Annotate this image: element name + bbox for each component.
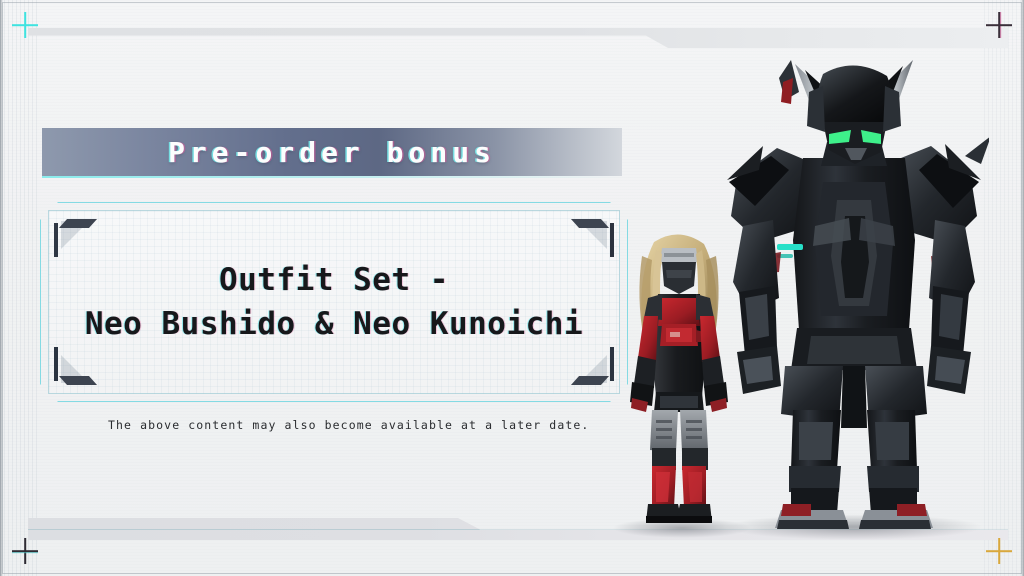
left-hatch-texture [0,0,40,576]
cross-marker-icon-bottom-left [12,538,38,564]
left-edge-shade [0,0,3,576]
edge-tick-left-bottom [54,347,58,381]
bonus-title: Outfit Set - Neo Bushido & Neo Kunoichi [85,258,583,346]
bonus-title-line-2: Neo Bushido & Neo Kunoichi [85,302,583,346]
promo-slide: Pre-order bonus Outfit Set - Neo Bushido… [0,0,1024,576]
cross-marker-icon-top-left [12,12,38,38]
corner-nub-bottom-right [571,376,609,385]
character-artwork [594,0,1024,576]
edge-tick-right-top [610,223,614,257]
edge-tick-left-top [54,223,58,257]
bonus-title-line-1: Outfit Set - [85,258,583,302]
corner-nub-top-left [59,219,97,228]
banner-label: Pre-order bonus [168,136,496,169]
disclaimer-text: The above content may also become availa… [108,418,589,432]
panel-inner-frame: Outfit Set - Neo Bushido & Neo Kunoichi [48,210,620,394]
bonus-content-panel: Outfit Set - Neo Bushido & Neo Kunoichi [40,202,628,402]
corner-nub-bottom-left [59,376,97,385]
character-neo-bushido [719,30,989,530]
edge-tick-right-bottom [610,347,614,381]
pre-order-bonus-banner: Pre-order bonus [42,128,622,176]
corner-nub-top-right [571,219,609,228]
